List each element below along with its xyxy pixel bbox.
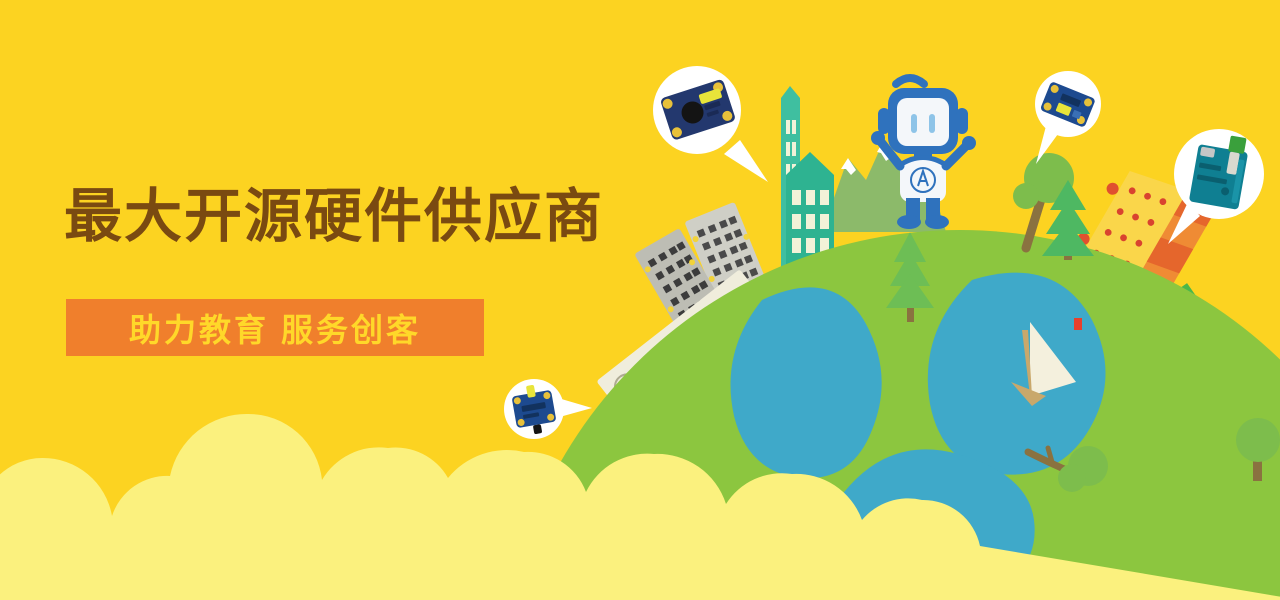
lake-left bbox=[731, 287, 882, 478]
banner-illustration bbox=[0, 0, 1280, 600]
promo-banner: 最大开源硬件供应商 助力教育 服务创客 bbox=[0, 0, 1280, 600]
